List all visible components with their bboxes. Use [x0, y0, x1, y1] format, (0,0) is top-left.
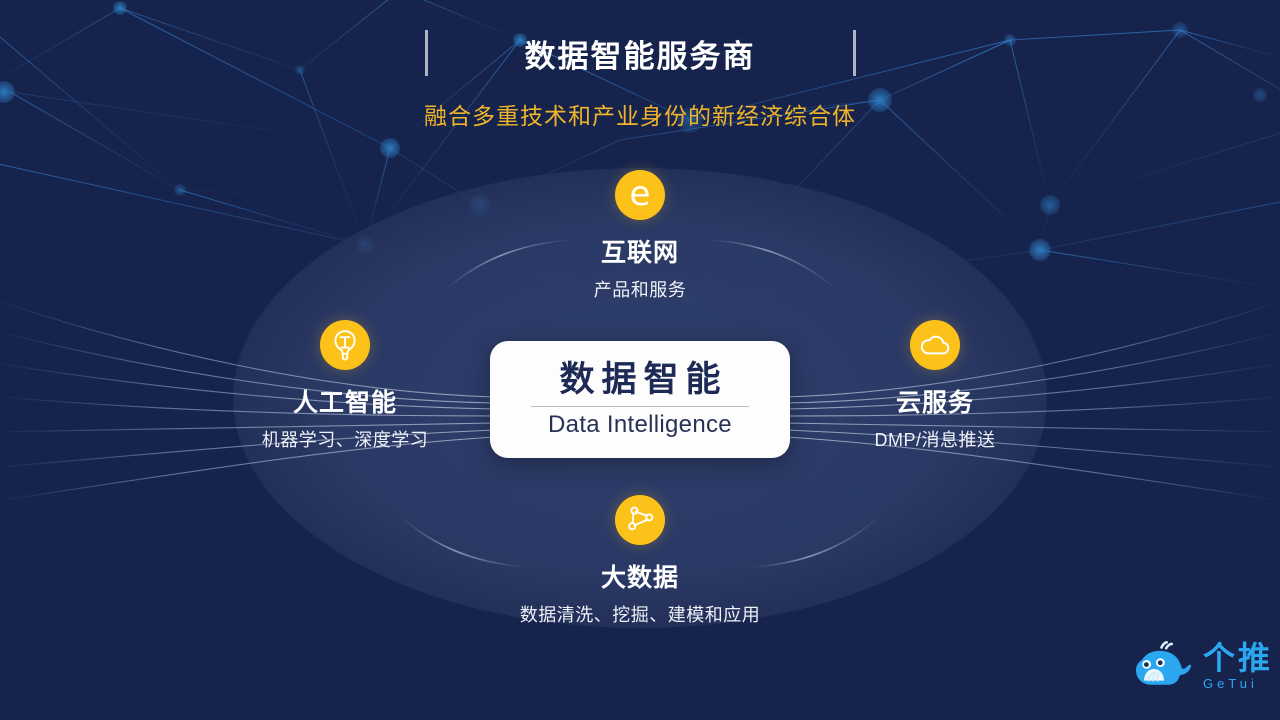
node-big-data-label: 大数据	[440, 558, 840, 594]
node-internet-label: 互联网	[440, 233, 840, 269]
ai-head-icon	[320, 320, 370, 370]
center-card[interactable]: 数据智能 Data Intelligence	[490, 341, 790, 458]
logo-name-en: GeTui	[1203, 677, 1258, 690]
logo-name-cn: 个推	[1203, 642, 1273, 674]
node-internet[interactable]: e 互联网 产品和服务	[440, 170, 840, 302]
whale-icon	[1133, 640, 1195, 692]
page-title: 数据智能服务商	[525, 31, 756, 76]
node-internet-sublabel: 产品和服务	[440, 276, 840, 302]
slide-canvas: 数据智能服务商 融合多重技术和产业身份的新经济综合体 e 互联网 产品和服务 人…	[0, 0, 1280, 720]
page-subtitle: 融合多重技术和产业身份的新经济综合体	[0, 97, 1280, 131]
title-divider-left-icon	[425, 30, 428, 76]
node-ai-label: 人工智能	[145, 383, 545, 419]
center-card-divider	[531, 406, 749, 407]
node-cloud-label: 云服务	[735, 383, 1135, 419]
getui-logo[interactable]: 个推 GeTui	[1133, 640, 1273, 692]
internet-explorer-e-icon: e	[615, 170, 665, 220]
node-ai-sublabel: 机器学习、深度学习	[145, 426, 545, 452]
cloud-icon	[910, 320, 960, 370]
title-divider-right-icon	[853, 30, 856, 76]
network-share-icon	[615, 495, 665, 545]
node-big-data[interactable]: 大数据 数据清洗、挖掘、建模和应用	[440, 495, 840, 627]
node-big-data-sublabel: 数据清洗、挖掘、建模和应用	[440, 601, 840, 627]
title-row: 数据智能服务商	[0, 30, 1280, 76]
logo-wordmark: 个推 GeTui	[1203, 642, 1273, 690]
node-cloud-service[interactable]: 云服务 DMP/消息推送	[735, 320, 1135, 452]
center-card-title-en: Data Intelligence	[548, 413, 732, 437]
center-card-title-cn: 数据智能	[552, 362, 727, 397]
node-cloud-sublabel: DMP/消息推送	[735, 426, 1135, 452]
node-artificial-intelligence[interactable]: 人工智能 机器学习、深度学习	[145, 320, 545, 452]
